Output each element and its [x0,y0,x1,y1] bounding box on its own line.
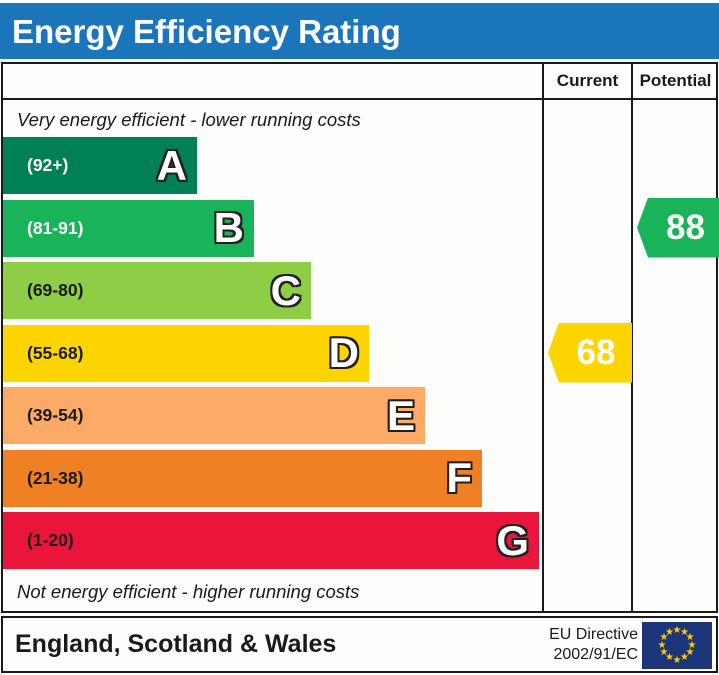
column-divider-current [542,100,544,613]
rating-band-f: (21-38)F [3,450,482,507]
band-letter-a: A [157,145,187,187]
band-range-label-c: (69-80) [3,280,83,301]
rating-band-c: (69-80)C [3,262,311,319]
column-header-potential: Potential [631,64,718,98]
band-letter-e: E [387,395,415,437]
footer-region-label: England, Scotland & Wales [3,632,336,657]
column-header-current: Current [542,64,631,98]
page-title: Energy Efficiency Rating [0,15,401,48]
band-range-label-d: (55-68) [3,343,83,364]
rating-table: Current Potential Very energy efficient … [1,62,718,613]
band-range-label-f: (21-38) [3,468,83,489]
eu-flag-icon: ★★★★★★★★★★★★ [642,622,712,669]
eu-directive-label: EU Directive 2002/91/EC [549,625,638,665]
band-letter-f: F [446,457,472,499]
rating-value-potential: 88 [654,210,705,245]
energy-efficiency-rating-certificate: Energy Efficiency Rating Current Potenti… [0,0,719,675]
band-range-label-g: (1-20) [3,530,74,551]
column-header-row: Current Potential [3,64,716,100]
rating-band-b: (81-91)B [3,200,254,257]
footer: England, Scotland & Wales EU Directive 2… [1,616,718,673]
caption-efficient: Very energy efficient - lower running co… [17,104,537,136]
rating-arrow-current: 68 [548,323,632,383]
rating-value-current: 68 [565,335,616,370]
band-letter-d: D [329,332,359,374]
rating-bands: (92+)A(81-91)B(69-80)C(55-68)D(39-54)E(2… [3,137,542,574]
caption-inefficient: Not energy efficient - higher running co… [17,576,537,608]
rating-band-e: (39-54)E [3,387,425,444]
rating-arrow-potential: 88 [637,198,719,258]
rating-band-a: (92+)A [3,137,197,194]
rating-band-g: (1-20)G [3,512,539,569]
rating-band-d: (55-68)D [3,325,369,382]
band-letter-b: B [214,207,244,249]
band-letter-g: G [496,520,529,562]
eu-flag-star: ★ [665,628,674,638]
eu-directive-line1: EU Directive [549,625,638,645]
band-range-label-b: (81-91) [3,218,83,239]
eu-directive-line2: 2002/91/EC [549,645,638,665]
band-range-label-a: (92+) [3,155,68,176]
title-bar: Energy Efficiency Rating [0,3,719,59]
band-letter-c: C [271,270,301,312]
band-range-label-e: (39-54) [3,405,83,426]
